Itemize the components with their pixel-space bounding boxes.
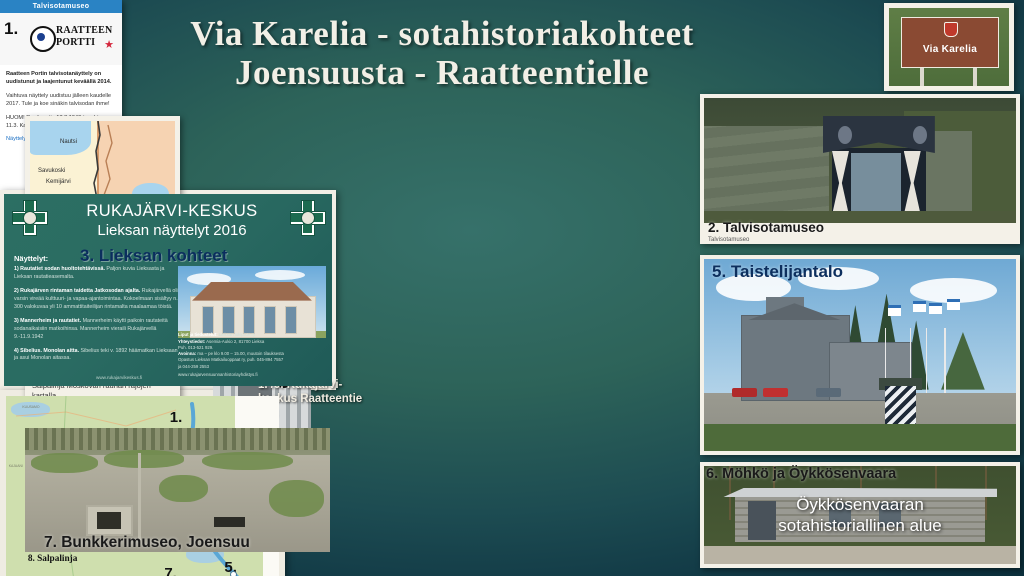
photo-trees	[25, 428, 330, 450]
finnish-flag	[947, 299, 960, 310]
panel-header-talvisotamuseo: Talvisotamuseo	[0, 0, 122, 13]
overlay-line-1: Öykkösenvaaran	[704, 495, 1016, 515]
contact-line: ja 044-259 2553	[178, 364, 326, 370]
canopy-porthole	[838, 126, 852, 144]
exhibit-item: 3) Mannerheim ja rautatiet. Mannerheim k…	[14, 318, 182, 342]
taistelijantalo-card	[700, 255, 1020, 455]
poster-inner: RUKAJÄRVI-KESKUS Lieksan näyttelyt 2016 …	[4, 194, 332, 386]
brand-line-1: RAATTEEN	[56, 25, 112, 37]
label-6-mohko: 6. Möhkö ja Öykkösenvaara	[706, 466, 896, 482]
raatteen-portti-logo-row: 1. RAATTEEN PORTTI ★	[0, 13, 122, 65]
finnish-flag	[888, 305, 901, 316]
map-label-nautsi: Nautsi	[60, 139, 77, 145]
poster-website: www.rukajarvikeskus.fi	[96, 375, 142, 380]
building-window	[222, 306, 234, 334]
photo-ground	[704, 546, 1016, 564]
road-sign: Via Karelia	[901, 17, 999, 67]
taistelijantalo-photo	[704, 259, 1016, 451]
poster-title-line-2: Lieksan näyttelyt 2016	[54, 222, 290, 239]
marker-number-1: 1.	[4, 19, 18, 39]
sign-post-left	[920, 66, 924, 86]
building-window	[243, 306, 255, 334]
exhibit-title: 3) Mannerheim ja rautatiet.	[14, 318, 81, 324]
building-window	[285, 306, 297, 334]
rukajarvi-keskus-poster: RUKAJÄRVI-KESKUS Lieksan näyttelyt 2016 …	[0, 190, 336, 390]
map-faint-label: KUUSAMO	[22, 405, 39, 409]
legend-item: 8. Salpalinja	[28, 553, 140, 565]
flagpole	[926, 328, 928, 393]
exhibit-title: 2) Rukajärven rintaman taidetta Jatkosod…	[14, 288, 140, 294]
moss-patch	[104, 450, 183, 467]
talvisotamuseo-subcaption: Talvisotamuseo	[708, 237, 749, 243]
finnish-flag	[913, 301, 926, 312]
museum-wall-left	[704, 126, 829, 216]
title-line-2: Joensuusta - Raatteentielle	[112, 53, 772, 92]
photo-foreground-grass	[704, 424, 1016, 451]
overlay-label-lieksan-kohteet: 3. Lieksan kohteet	[80, 246, 227, 266]
via-karelia-sign-photo: Via Karelia	[884, 3, 1014, 91]
exhibit-item: 1) Rautatiet sodan huoltotehtävissä. Pal…	[14, 266, 182, 282]
map-point	[230, 571, 237, 576]
label-5-taistelijantalo: 5. Taistelijantalo	[712, 262, 843, 282]
oykkosenvaara-overlay-text: Öykkösenvaaran sotahistoriallinen alue	[704, 495, 1016, 536]
poster-title-line-1: RUKAJÄRVI-KESKUS	[54, 202, 290, 221]
label-2-talvisotamuseo: 2. Talvisotamuseo	[708, 220, 824, 235]
rukajarvi-cross-icon-left	[12, 200, 46, 234]
building-window	[264, 306, 276, 334]
moss-patch	[202, 452, 294, 471]
moss-patch	[159, 475, 208, 502]
exhibit-title: 1) Rautatiet sodan huoltotehtävissä.	[14, 266, 105, 272]
museum-glass-doors	[851, 153, 901, 213]
label-7-bunkkerimuseo: 7. Bunkkerimuseo, Joensuu	[44, 534, 250, 552]
rukajarvi-cross-icon-right	[290, 200, 324, 234]
map-marker-1: 1.	[170, 409, 183, 426]
map-faint-label: KAJAANI	[9, 464, 23, 468]
parked-car	[763, 388, 788, 398]
slide-canvas: Via Karelia - sotahistoriakohteet Joensu…	[0, 0, 1024, 576]
talvisotamuseo-photo	[704, 98, 1016, 223]
moss-patch	[269, 480, 324, 517]
via-karelia-photo-inner: Via Karelia	[889, 8, 1009, 86]
coat-of-arms-icon	[944, 22, 958, 37]
map-label-savukoski: Savukoski	[38, 168, 65, 174]
bunker-embrasure	[86, 505, 133, 536]
bunker-pipe	[138, 453, 141, 540]
rp-paragraph-2: Vaihtuva näyttely uudistuu jälleen kaude…	[6, 92, 116, 109]
poster-title: RUKAJÄRVI-KESKUS Lieksan näyttelyt 2016	[54, 202, 290, 239]
canopy-porthole	[913, 126, 927, 144]
sentry-box	[885, 386, 916, 428]
page-title: Via Karelia - sotahistoriakohteet Joensu…	[112, 14, 772, 92]
exhibit-title: 4) Sibelius. Monolan aitta.	[14, 348, 79, 354]
parked-car	[732, 388, 757, 398]
flagpole	[944, 328, 946, 393]
poster-contact-info: Liput ja tiedustelut: Lieksan lukipiste …	[178, 332, 326, 378]
star-icon: ★	[104, 38, 114, 51]
bunker-slit	[214, 517, 245, 527]
road-sign-text: Via Karelia	[902, 44, 998, 55]
overlay-line-2: sotahistoriallinen alue	[704, 516, 1016, 536]
rp-paragraph-1: Raatteen Portin talvisotanäyttely on uud…	[6, 70, 116, 87]
exhibits-heading: Näyttelyt:	[14, 254, 48, 263]
parked-car	[816, 388, 841, 398]
map-marker-7: 7.	[164, 565, 177, 576]
sign-post-right	[973, 66, 977, 86]
moss-patch	[31, 453, 98, 473]
exhibit-item: 2) Rukajärven rintaman taidetta Jatkosod…	[14, 288, 182, 312]
poster-footer-url: www.rukajarvensuunnanhistoriayhdistys.fi	[178, 372, 326, 378]
building-window	[202, 306, 214, 334]
title-line-1: Via Karelia - sotahistoriakohteet	[112, 14, 772, 53]
map-label-kemijarvi: Kemijärvi	[46, 179, 71, 185]
target-ring-icon	[30, 26, 56, 52]
rukajarvi-building-photo	[178, 266, 326, 338]
finnish-flag	[929, 303, 942, 314]
exhibits-list: 1) Rautatiet sodan huoltotehtävissä. Pal…	[14, 266, 182, 369]
exhibit-item: 4) Sibelius. Monolan aitta. Sibelius tek…	[14, 348, 182, 364]
